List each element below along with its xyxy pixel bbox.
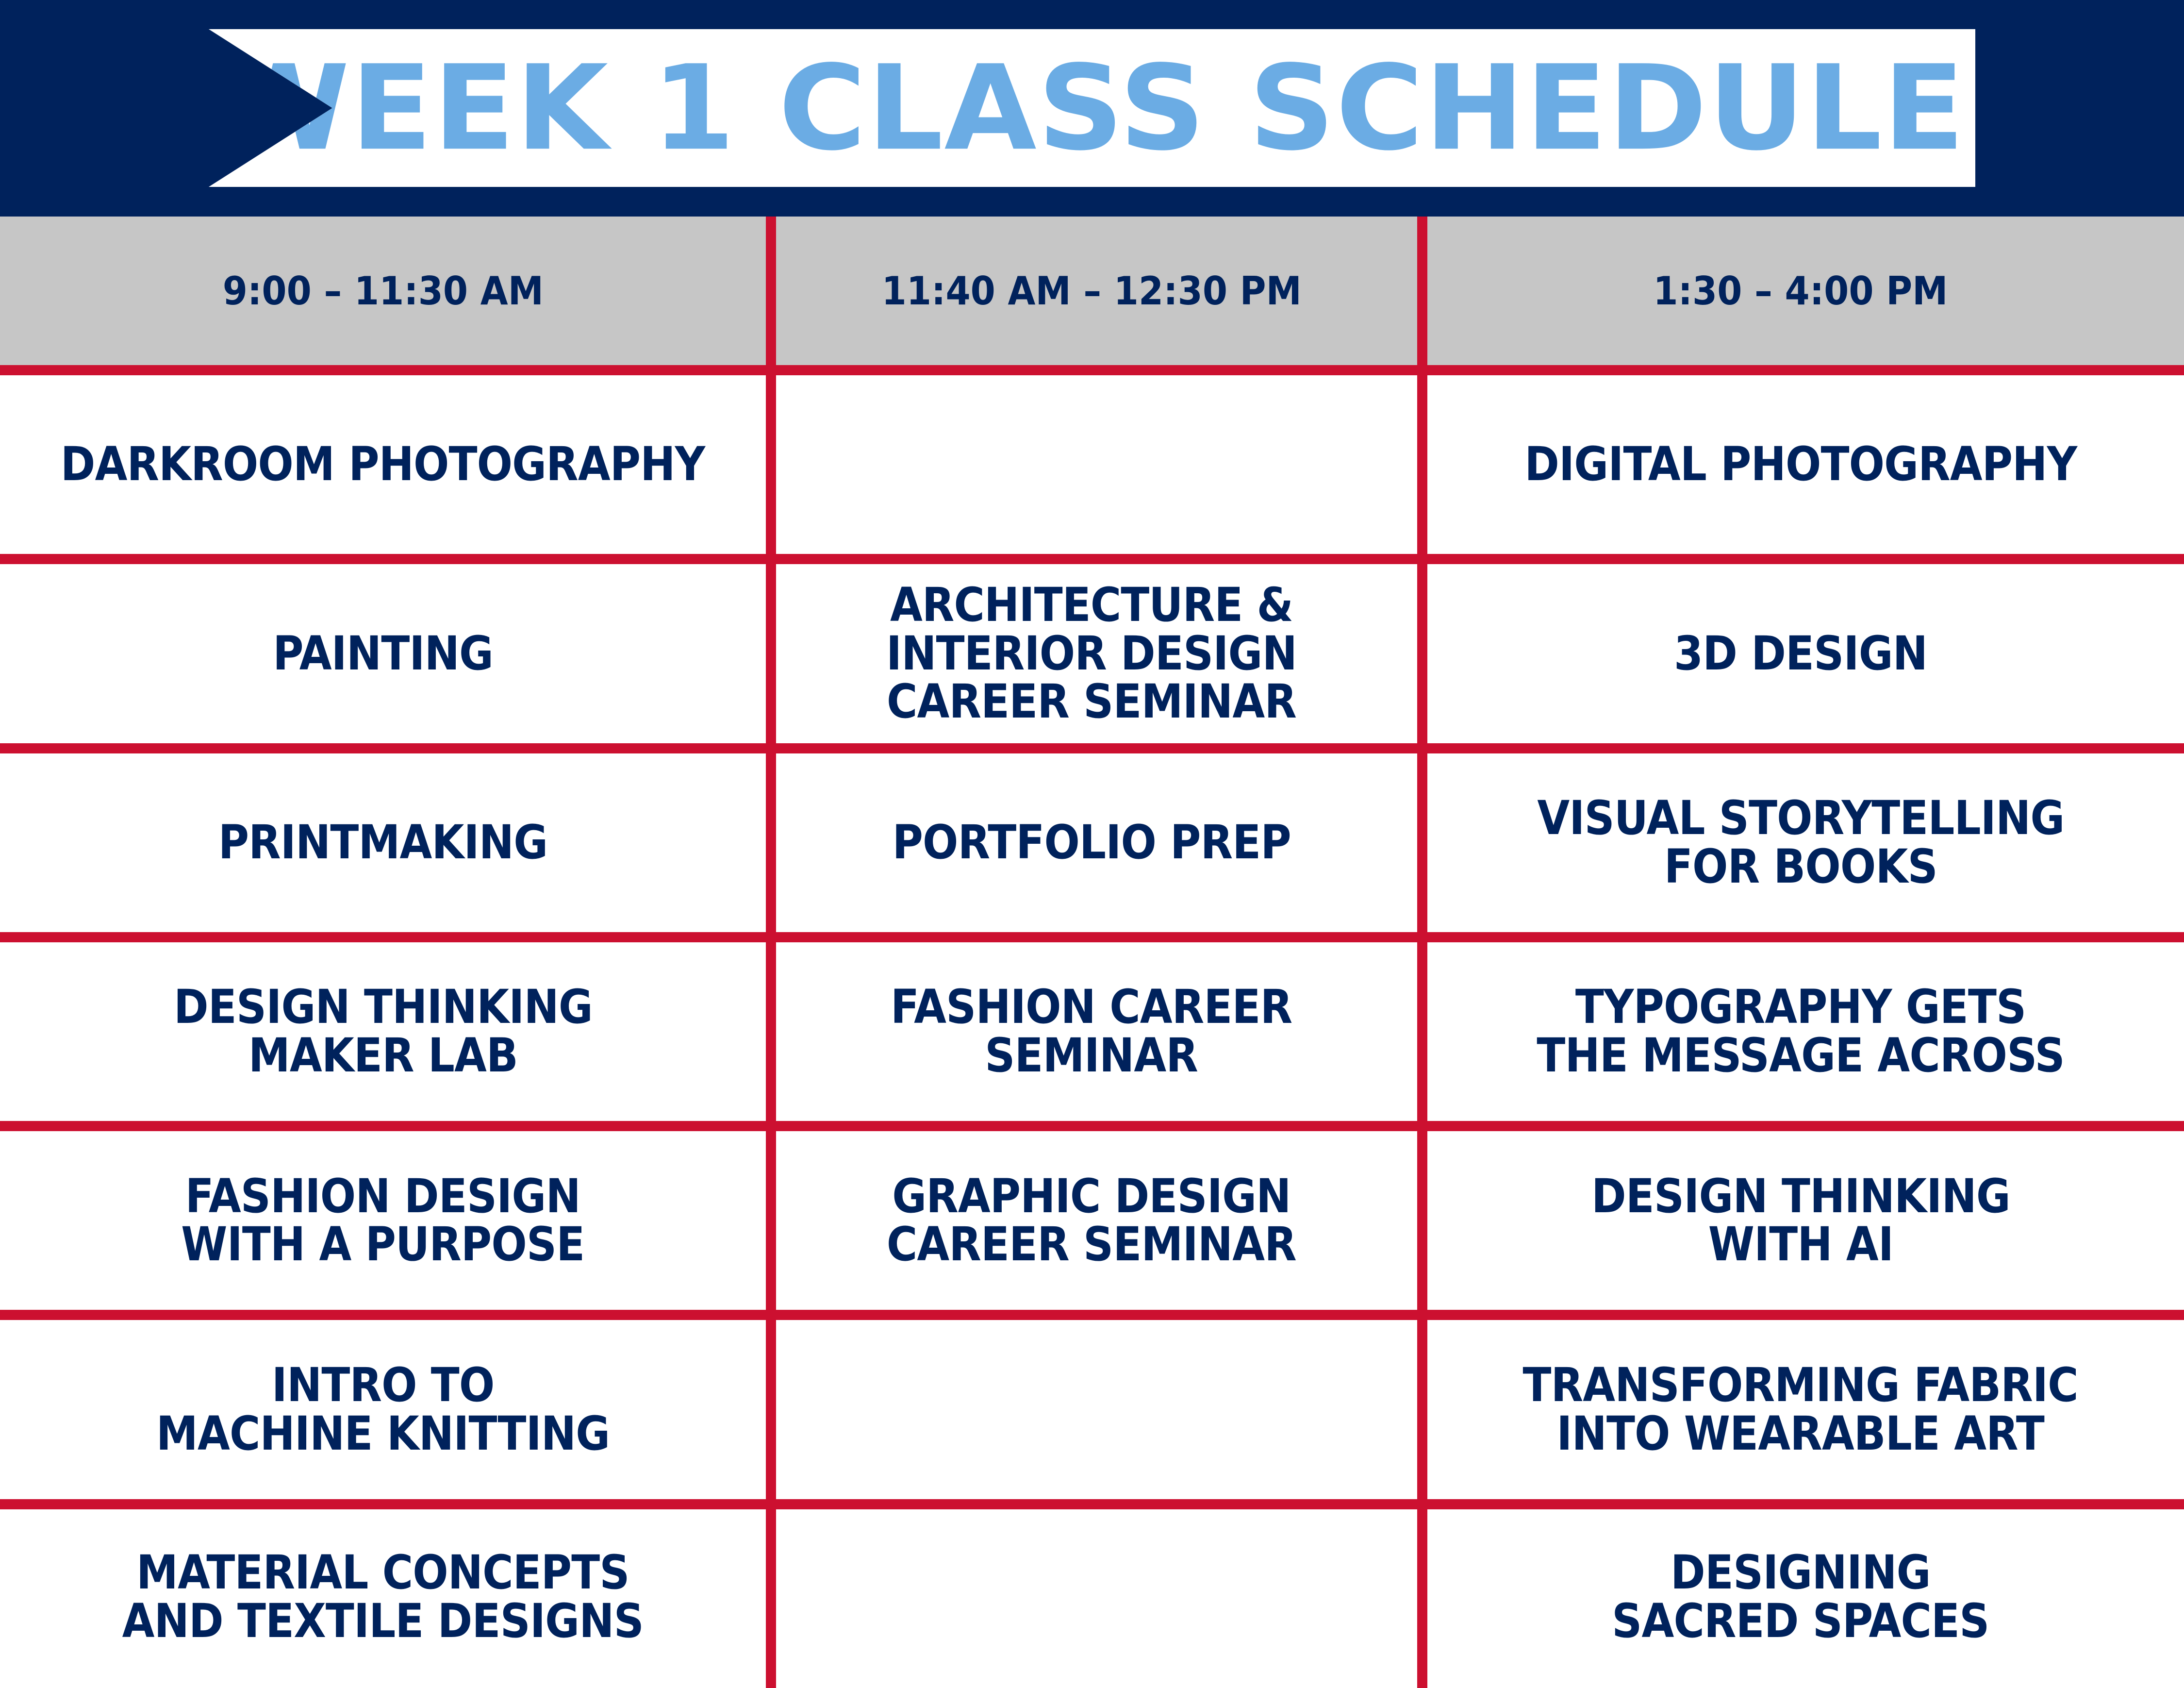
class-cell-midday <box>766 1509 1417 1685</box>
class-label: INTRO TO MACHINE KNITTING <box>156 1361 610 1458</box>
class-schedule-poster: WEEK 1 CLASS SCHEDULE 9:00 – 11:30 AM 11… <box>0 0 2184 1688</box>
class-label: DESIGNING SACRED SPACES <box>1612 1549 1989 1646</box>
table-row: DARKROOM PHOTOGRAPHY DIGITAL PHOTOGRAPHY <box>0 365 2184 554</box>
class-label: GRAPHIC DESIGN CAREER SEMINAR <box>887 1172 1296 1270</box>
class-cell-morning: INTRO TO MACHINE KNITTING <box>0 1320 766 1499</box>
class-label: DESIGN THINKING MAKER LAB <box>174 983 593 1080</box>
class-cell-afternoon: DESIGN THINKING WITH AI <box>1417 1131 2184 1310</box>
class-label: TRANSFORMING FABRIC INTO WEARABLE ART <box>1523 1361 2078 1458</box>
table-row: MATERIAL CONCEPTS AND TEXTILE DESIGNS DE… <box>0 1499 2184 1685</box>
class-label: MATERIAL CONCEPTS AND TEXTILE DESIGNS <box>122 1549 644 1646</box>
class-cell-morning: DESIGN THINKING MAKER LAB <box>0 942 766 1121</box>
column-divider-1 <box>766 217 776 1688</box>
header-band: WEEK 1 CLASS SCHEDULE <box>0 0 2184 217</box>
column-divider-2 <box>1417 217 1427 1688</box>
class-label: FASHION DESIGN WITH A PURPOSE <box>181 1172 584 1270</box>
class-cell-midday: PORTFOLIO PREP <box>766 753 1417 932</box>
class-cell-midday <box>766 1320 1417 1499</box>
time-header-morning-label: 9:00 – 11:30 AM <box>222 268 543 314</box>
table-row: INTRO TO MACHINE KNITTING TRANSFORMING F… <box>0 1310 2184 1499</box>
table-row: PAINTING ARCHITECTURE & INTERIOR DESIGN … <box>0 554 2184 743</box>
class-label: DIGITAL PHOTOGRAPHY <box>1524 440 2077 489</box>
class-label: ARCHITECTURE & INTERIOR DESIGN CAREER SE… <box>886 581 1297 726</box>
class-cell-afternoon: VISUAL STORYTELLING FOR BOOKS <box>1417 753 2184 932</box>
schedule-grid: DARKROOM PHOTOGRAPHY DIGITAL PHOTOGRAPHY… <box>0 365 2184 1688</box>
class-cell-midday: ARCHITECTURE & INTERIOR DESIGN CAREER SE… <box>766 564 1417 743</box>
class-cell-afternoon: DESIGNING SACRED SPACES <box>1417 1509 2184 1685</box>
class-cell-morning: DARKROOM PHOTOGRAPHY <box>0 375 766 554</box>
class-cell-midday <box>766 375 1417 554</box>
time-header-afternoon: 1:30 – 4:00 PM <box>1417 217 2184 365</box>
class-label: PRINTMAKING <box>218 819 548 867</box>
page-title: WEEK 1 CLASS SCHEDULE <box>218 50 1966 167</box>
time-header-midday-label: 11:40 AM – 12:30 PM <box>881 268 1301 314</box>
class-label: DARKROOM PHOTOGRAPHY <box>61 440 705 489</box>
class-cell-afternoon: 3D DESIGN <box>1417 564 2184 743</box>
class-cell-morning: PAINTING <box>0 564 766 743</box>
class-cell-afternoon: TRANSFORMING FABRIC INTO WEARABLE ART <box>1417 1320 2184 1499</box>
class-label: VISUAL STORYTELLING FOR BOOKS <box>1537 794 2064 891</box>
title-ribbon: WEEK 1 CLASS SCHEDULE <box>209 29 1975 187</box>
class-cell-morning: FASHION DESIGN WITH A PURPOSE <box>0 1131 766 1310</box>
class-cell-midday: FASHION CAREER SEMINAR <box>766 942 1417 1121</box>
class-cell-morning: PRINTMAKING <box>0 753 766 932</box>
class-label: DESIGN THINKING WITH AI <box>1591 1172 2010 1270</box>
class-cell-morning: MATERIAL CONCEPTS AND TEXTILE DESIGNS <box>0 1509 766 1685</box>
class-label: FASHION CAREER SEMINAR <box>891 983 1292 1080</box>
table-row: DESIGN THINKING MAKER LAB FASHION CAREER… <box>0 932 2184 1121</box>
class-label: PAINTING <box>273 630 493 678</box>
class-label: 3D DESIGN <box>1674 630 1927 678</box>
time-header-row: 9:00 – 11:30 AM 11:40 AM – 12:30 PM 1:30… <box>0 217 2184 365</box>
table-row: FASHION DESIGN WITH A PURPOSE GRAPHIC DE… <box>0 1121 2184 1310</box>
class-cell-afternoon: TYPOGRAPHY GETS THE MESSAGE ACROSS <box>1417 942 2184 1121</box>
time-header-midday: 11:40 AM – 12:30 PM <box>766 217 1417 365</box>
class-label: PORTFOLIO PREP <box>892 819 1291 867</box>
time-header-afternoon-label: 1:30 – 4:00 PM <box>1654 268 1948 314</box>
class-label: TYPOGRAPHY GETS THE MESSAGE ACROSS <box>1537 983 2064 1080</box>
time-header-morning: 9:00 – 11:30 AM <box>0 217 766 365</box>
class-cell-afternoon: DIGITAL PHOTOGRAPHY <box>1417 375 2184 554</box>
class-cell-midday: GRAPHIC DESIGN CAREER SEMINAR <box>766 1131 1417 1310</box>
table-row: PRINTMAKING PORTFOLIO PREP VISUAL STORYT… <box>0 743 2184 932</box>
